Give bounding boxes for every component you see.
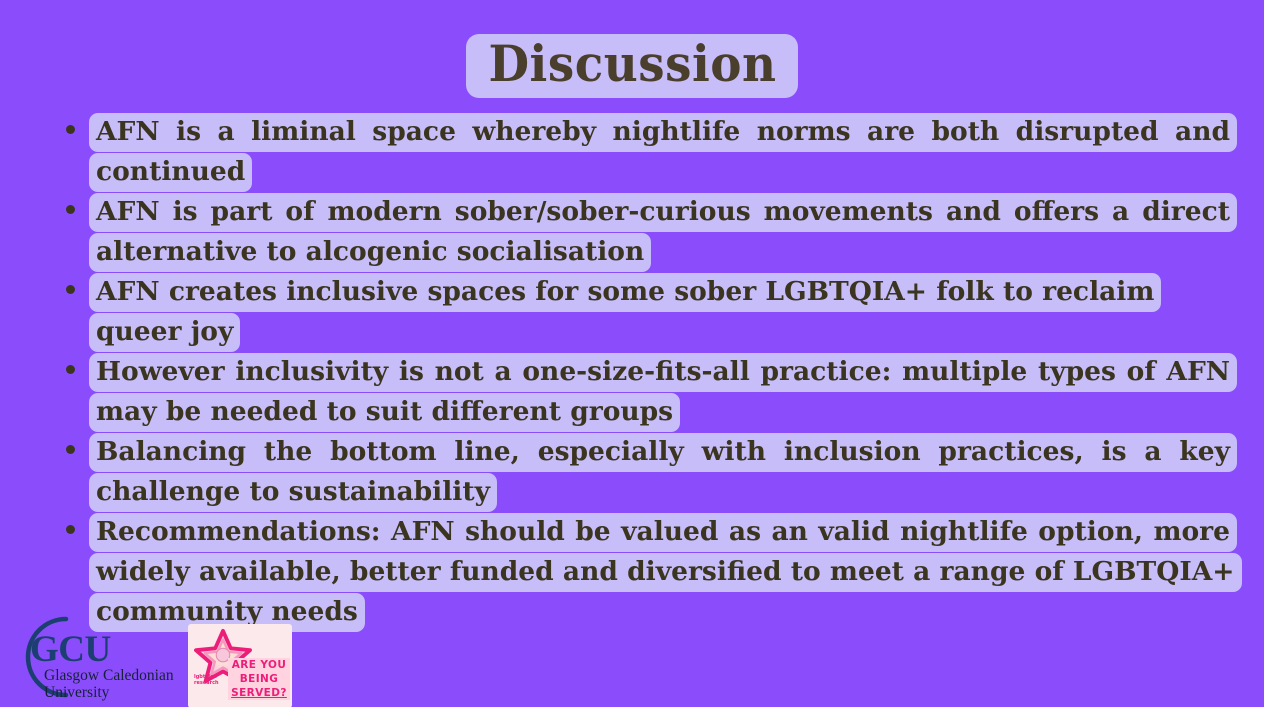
ays-line2: BEING (228, 672, 290, 686)
ays-line3: SERVED? (228, 686, 290, 700)
gcu-name-line1: Glasgow Caledonian (44, 667, 184, 684)
bullet-dot-icon (66, 125, 75, 134)
bullet-text-block: AFN is a liminal space whereby nightlife… (89, 112, 1237, 192)
bullet-text-block: Balancing the bottom line, especially wi… (89, 432, 1237, 512)
bullet-dot-icon (66, 365, 75, 374)
bullet-text: AFN creates inclusive spaces for some so… (89, 273, 1161, 352)
list-item: However inclusivity is not a one-size-fi… (61, 352, 1237, 432)
bullet-dot-icon (66, 445, 75, 454)
bullet-dot-icon (66, 285, 75, 294)
gcu-name: Glasgow Caledonian University (44, 667, 184, 701)
gcu-logo: GCU Glasgow Caledonian University (8, 609, 180, 705)
bullet-dot-icon (66, 205, 75, 214)
bullet-text: AFN is part of modern sober/sober-curiou… (89, 193, 1237, 272)
footer-logos: GCU Glasgow Caledonian University (0, 607, 1264, 707)
slide-title-box: Discussion (466, 34, 799, 98)
are-you-being-served-logo: lgbtqia+ research ARE YOU BEING SERVED? (188, 624, 292, 707)
list-item: AFN is a liminal space whereby nightlife… (61, 112, 1237, 192)
ays-tagline: ARE YOU BEING SERVED? (228, 658, 290, 700)
slide-title-container: Discussion (0, 34, 1264, 98)
list-item: Balancing the bottom line, especially wi… (61, 432, 1237, 512)
bullet-text: Balancing the bottom line, especially wi… (89, 433, 1237, 512)
ays-line1: ARE YOU (228, 658, 290, 672)
bullet-text-block: AFN creates inclusive spaces for some so… (89, 272, 1237, 352)
bullet-text: However inclusivity is not a one-size-fi… (89, 353, 1237, 432)
slide: Discussion AFN is a liminal space whereb… (0, 0, 1264, 707)
list-item: AFN creates inclusive spaces for some so… (61, 272, 1237, 352)
gcu-initials: GCU (30, 631, 111, 668)
bullet-text-block: However inclusivity is not a one-size-fi… (89, 352, 1237, 432)
bullet-dot-icon (66, 525, 75, 534)
list-item: AFN is part of modern sober/sober-curiou… (61, 192, 1237, 272)
bullet-text: AFN is a liminal space whereby nightlife… (89, 113, 1237, 192)
discussion-bullet-list: AFN is a liminal space whereby nightlife… (61, 112, 1237, 632)
page-title: Discussion (488, 38, 776, 89)
gcu-name-line2: University (44, 684, 184, 701)
bullet-text-block: AFN is part of modern sober/sober-curiou… (89, 192, 1237, 272)
